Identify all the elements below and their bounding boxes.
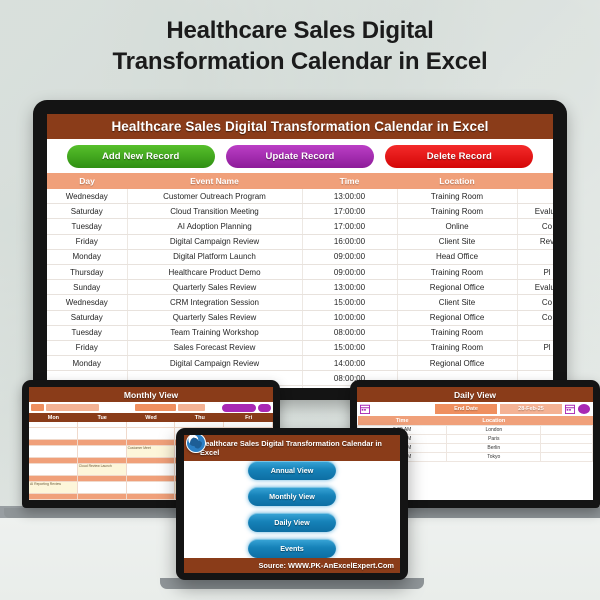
table-cell[interactable]: Saturday <box>47 310 127 325</box>
table-cell[interactable]: Regional Office <box>397 356 517 371</box>
table-cell[interactable]: Digital Campaign Review <box>127 234 302 249</box>
table-cell[interactable]: 09:00:00 <box>302 249 397 264</box>
tablet-title-bar: Healthcare Sales Digital Transformation … <box>184 435 400 461</box>
tablet-screen: Healthcare Sales Digital Transformation … <box>184 435 400 573</box>
daily-table-cell[interactable] <box>541 435 593 444</box>
daily-column-header-extra[interactable] <box>541 416 593 426</box>
table-cell[interactable]: 13:00:00 <box>302 280 397 295</box>
main-laptop-screen: Healthcare Sales Digital Transformation … <box>47 114 553 388</box>
annual-view-button[interactable]: Annual View <box>248 461 336 480</box>
table-cell[interactable]: 13:00:00 <box>302 189 397 204</box>
column-header-location[interactable]: Location <box>397 173 517 189</box>
monthly-day-event-cell[interactable] <box>78 482 127 494</box>
table-cell[interactable]: Regional Office <box>397 310 517 325</box>
monthly-day-header-row: Mon Tue Wed Thu Fri <box>29 413 273 422</box>
table-cell[interactable]: Friday <box>47 234 127 249</box>
table-row[interactable]: MondayDigital Platform Launch09:00:00Hea… <box>47 249 553 264</box>
monthly-spacer-2 <box>207 404 220 411</box>
calendar-icon[interactable] <box>360 404 370 414</box>
table-cell[interactable]: 09:00:00 <box>302 264 397 279</box>
table-cell[interactable]: Co <box>517 295 553 310</box>
events-table-body: WednesdayCustomer Outreach Program13:00:… <box>47 189 553 388</box>
table-cell[interactable]: Quarterly Sales Review <box>127 310 302 325</box>
page-title-line-1: Healthcare Sales Digital <box>0 16 600 47</box>
column-header-extra[interactable] <box>517 173 553 189</box>
tablet-device: Healthcare Sales Digital Transformation … <box>176 428 408 580</box>
daily-table-cell[interactable]: Tokyo <box>447 453 541 462</box>
table-cell[interactable]: Regional Office <box>397 280 517 295</box>
column-header-time[interactable]: Time <box>302 173 397 189</box>
monthly-dow-thu: Thu <box>175 413 224 422</box>
monthly-dow-mon: Mon <box>29 413 78 422</box>
table-cell[interactable]: Saturday <box>47 204 127 219</box>
table-cell[interactable]: Head Office <box>397 249 517 264</box>
table-row[interactable]: MondayDigital Campaign Review14:00:00Reg… <box>47 356 553 371</box>
main-laptop-device: Healthcare Sales Digital Transformation … <box>33 100 567 400</box>
table-row[interactable]: TuesdayTeam Training Workshop08:00:00Tra… <box>47 325 553 340</box>
table-cell[interactable]: Tuesday <box>47 325 127 340</box>
table-cell[interactable]: Co <box>517 219 553 234</box>
monthly-day-event-cell[interactable] <box>127 464 176 476</box>
table-cell[interactable]: 10:00:00 <box>302 310 397 325</box>
table-cell[interactable] <box>517 189 553 204</box>
table-cell[interactable]: Digital Campaign Review <box>127 356 302 371</box>
table-row[interactable]: SaturdayQuarterly Sales Review10:00:00Re… <box>47 310 553 325</box>
table-cell[interactable]: Client Site <box>397 295 517 310</box>
column-header-day[interactable]: Day <box>47 173 127 189</box>
table-row[interactable]: WednesdayCRM Integration Session15:00:00… <box>47 295 553 310</box>
table-row[interactable]: FridaySales Forecast Review15:00:00Train… <box>47 340 553 355</box>
monthly-day-event-cell[interactable]: Customer Meet <box>127 446 176 458</box>
table-cell[interactable]: Rev <box>517 234 553 249</box>
table-row[interactable]: FridayDigital Campaign Review16:00:00Cli… <box>47 234 553 249</box>
daily-view-toolbar: End Date 28-Feb-25 <box>357 402 593 416</box>
table-cell[interactable]: 14:00:00 <box>302 356 397 371</box>
daily-table-cell[interactable]: London <box>447 426 541 435</box>
calendar-icon-2[interactable] <box>565 404 575 414</box>
table-cell[interactable]: Digital Platform Launch <box>127 249 302 264</box>
table-cell[interactable]: Training Room <box>397 340 517 355</box>
table-cell[interactable]: Wednesday <box>47 295 127 310</box>
daily-table-header-row: Time Location <box>358 416 593 426</box>
page-title-line-2: Transformation Calendar in Excel <box>0 47 600 78</box>
daily-column-header-location[interactable]: Location <box>447 416 541 426</box>
monthly-day-event-cell[interactable] <box>127 482 176 494</box>
daily-end-date-label: End Date <box>435 404 497 414</box>
update-record-button[interactable]: Update Record <box>226 145 374 168</box>
daily-table-cell[interactable]: Paris <box>447 435 541 444</box>
monthly-day-event-cell[interactable] <box>29 446 78 458</box>
monthly-dow-fri: Fri <box>224 413 273 422</box>
monthly-day-event-cell[interactable] <box>78 446 127 458</box>
monthly-day-event-cell[interactable]: AI Reporting Review <box>29 482 78 494</box>
column-header-event-name[interactable]: Event Name <box>127 173 302 189</box>
table-cell[interactable]: Client Site <box>397 234 517 249</box>
table-cell[interactable]: Cloud Transition Meeting <box>127 204 302 219</box>
monthly-day-event-cell[interactable] <box>29 428 78 440</box>
table-cell[interactable]: Pl <box>517 340 553 355</box>
table-cell[interactable]: 15:00:00 <box>302 340 397 355</box>
table-cell[interactable]: Friday <box>47 340 127 355</box>
events-table-header-row: Day Event Name Time Location <box>47 173 553 189</box>
daily-table-cell[interactable] <box>541 453 593 462</box>
monthly-month-field[interactable] <box>46 404 99 411</box>
table-cell[interactable]: Wednesday <box>47 189 127 204</box>
monthly-view-toolbar <box>29 402 273 413</box>
table-cell[interactable]: 15:00:00 <box>302 295 397 310</box>
monthly-prev-button[interactable] <box>31 404 44 411</box>
monthly-dow-tue: Tue <box>78 413 127 422</box>
monthly-day-event-cell[interactable] <box>29 464 78 476</box>
table-cell[interactable]: Sunday <box>47 280 127 295</box>
table-cell[interactable]: Evalua <box>517 204 553 219</box>
table-cell[interactable]: Monday <box>47 249 127 264</box>
monthly-add-new-button[interactable] <box>222 404 257 412</box>
table-row[interactable]: SaturdayCloud Transition Meeting17:00:00… <box>47 204 553 219</box>
table-cell[interactable]: 16:00:00 <box>302 234 397 249</box>
page-title: Healthcare Sales Digital Transformation … <box>0 16 600 77</box>
table-cell[interactable]: Training Room <box>397 325 517 340</box>
table-cell[interactable]: Online <box>397 219 517 234</box>
workbook-title: Healthcare Sales Digital Transformation … <box>47 114 553 139</box>
table-cell[interactable]: Pl <box>517 264 553 279</box>
table-cell[interactable]: Thursday <box>47 264 127 279</box>
table-cell[interactable]: 17:00:00 <box>302 219 397 234</box>
monthly-day-event-cell[interactable]: Cloud Review Launch <box>78 464 127 476</box>
daily-view-button[interactable]: Daily View <box>248 513 336 532</box>
daily-action-button[interactable] <box>578 404 590 414</box>
table-cell[interactable]: CRM Integration Session <box>127 295 302 310</box>
table-row[interactable]: ThursdayHealthcare Product Demo09:00:00T… <box>47 264 553 279</box>
daily-end-date-value[interactable]: 28-Feb-25 <box>500 404 562 414</box>
table-cell[interactable]: Training Room <box>397 204 517 219</box>
table-cell[interactable]: Evalua <box>517 280 553 295</box>
daily-view-title: Daily View <box>357 387 593 402</box>
daily-table-cell[interactable] <box>541 444 593 453</box>
table-cell[interactable]: Sales Forecast Review <box>127 340 302 355</box>
events-table: Day Event Name Time Location WednesdayCu… <box>47 173 553 388</box>
table-cell[interactable]: Tuesday <box>47 219 127 234</box>
events-button[interactable]: Events <box>248 539 336 558</box>
table-cell[interactable] <box>517 325 553 340</box>
table-cell[interactable]: Customer Outreach Program <box>127 189 302 204</box>
monthly-view-button[interactable]: Monthly View <box>248 487 336 506</box>
daily-column-header-time[interactable]: Time <box>358 416 447 426</box>
table-cell[interactable]: Quarterly Sales Review <box>127 280 302 295</box>
table-cell[interactable]: Team Training Workshop <box>127 325 302 340</box>
table-row[interactable]: WednesdayCustomer Outreach Program13:00:… <box>47 189 553 204</box>
table-cell[interactable]: Healthcare Product Demo <box>127 264 302 279</box>
table-cell[interactable] <box>517 249 553 264</box>
table-cell[interactable]: 08:00:00 <box>302 325 397 340</box>
table-cell[interactable]: Training Room <box>397 264 517 279</box>
table-row[interactable]: TuesdayAI Adoption Planning17:00:00Onlin… <box>47 219 553 234</box>
delete-record-button[interactable]: Delete Record <box>385 145 533 168</box>
monthly-day-event-cell[interactable] <box>78 428 127 440</box>
table-cell[interactable] <box>517 356 553 371</box>
record-action-toolbar: Add New Record Update Record Delete Reco… <box>47 139 553 173</box>
table-cell[interactable]: AI Adoption Planning <box>127 219 302 234</box>
monthly-extra-button[interactable] <box>258 404 271 412</box>
tablet-footer-source: Source: WWW.PK-AnExcelExpert.Com <box>184 558 400 573</box>
monthly-year-field[interactable] <box>135 404 175 411</box>
tablet-title-text: Healthcare Sales Digital Transformation … <box>200 439 382 457</box>
monthly-dow-wed: Wed <box>127 413 176 422</box>
table-cell[interactable]: Monday <box>47 356 127 371</box>
monthly-view-title: Monthly View <box>29 387 273 402</box>
monthly-spacer <box>101 404 134 411</box>
daily-table-cell[interactable]: Berlin <box>447 444 541 453</box>
add-new-record-button[interactable]: Add New Record <box>67 145 215 168</box>
table-row[interactable]: SundayQuarterly Sales Review13:00:00Regi… <box>47 280 553 295</box>
table-cell[interactable]: 17:00:00 <box>302 204 397 219</box>
daily-table-cell[interactable] <box>541 426 593 435</box>
tablet-menu: Annual View Monthly View Daily View Even… <box>184 461 400 558</box>
table-cell[interactable]: Training Room <box>397 189 517 204</box>
monthly-day-event-cell[interactable] <box>127 428 176 440</box>
monthly-year-value[interactable] <box>178 404 205 411</box>
table-cell[interactable]: Co <box>517 310 553 325</box>
